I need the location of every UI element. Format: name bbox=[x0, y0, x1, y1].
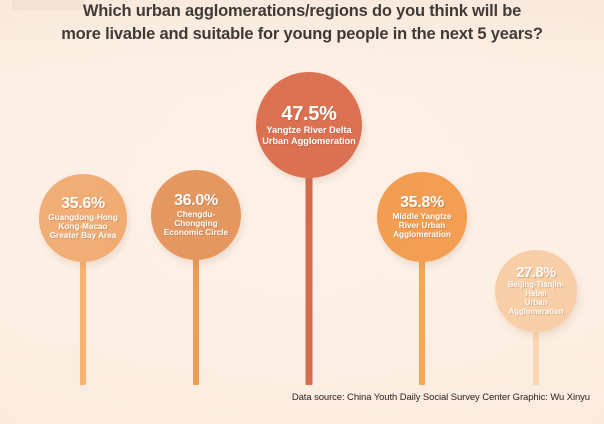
lollipop-chengdu-chongqing[interactable]: 36.0%Chengdu-ChongqingEconomic Circle bbox=[136, 170, 256, 385]
region-label-line: Beijing-Tianjin-Hebei bbox=[498, 281, 574, 298]
region-label-line: Urban Agglomeration bbox=[262, 136, 356, 146]
percentage-value: 27.8% bbox=[516, 266, 556, 281]
region-label: Chengdu-ChongqingEconomic Circle bbox=[161, 210, 231, 238]
lollipop-bubble[interactable]: 47.5%Yangtze River DeltaUrban Agglomerat… bbox=[256, 72, 362, 178]
region-label-line: Guangdong-Hong bbox=[48, 213, 118, 222]
percentage-value: 36.0% bbox=[174, 193, 218, 209]
lollipop-beijing-tianjin-hebei[interactable]: 27.8%Beijing-Tianjin-HebeiUrban Agglomer… bbox=[476, 250, 596, 385]
region-label-line: Chengdu- bbox=[164, 210, 228, 219]
region-label-line: Agglomeration bbox=[393, 230, 452, 239]
lollipop-bubble[interactable]: 27.8%Beijing-Tianjin-HebeiUrban Agglomer… bbox=[495, 250, 577, 332]
region-label-line: River Urban bbox=[393, 221, 452, 230]
region-label: Middle YangtzeRiver UrbanAgglomeration bbox=[390, 212, 455, 240]
region-label: Yangtze River DeltaUrban Agglomeration bbox=[259, 125, 359, 146]
percentage-value: 35.6% bbox=[61, 196, 105, 212]
region-label-line: Middle Yangtze bbox=[393, 212, 452, 221]
percentage-value: 35.8% bbox=[400, 195, 444, 211]
region-label-line: Chongqing bbox=[164, 219, 228, 228]
lollipop-middle-yangtze-river[interactable]: 35.8%Middle YangtzeRiver UrbanAgglomerat… bbox=[362, 172, 482, 385]
title-line-1: Which urban agglomerations/regions do yo… bbox=[0, 0, 604, 23]
region-label-line: Kong-Macao bbox=[48, 222, 118, 231]
data-source-note: Data source: China Youth Daily Social Su… bbox=[292, 392, 590, 403]
lollipop-bubble[interactable]: 36.0%Chengdu-ChongqingEconomic Circle bbox=[151, 170, 241, 260]
region-label-line: Urban Agglomeration bbox=[498, 299, 574, 316]
region-label-line: Greater Bay Area bbox=[48, 231, 118, 240]
title-line-2: more livable and suitable for young peop… bbox=[0, 23, 604, 46]
lollipop-bubble[interactable]: 35.6%Guangdong-HongKong-MacaoGreater Bay… bbox=[39, 174, 127, 262]
lollipop-yangtze-river-delta[interactable]: 47.5%Yangtze River DeltaUrban Agglomerat… bbox=[249, 72, 369, 385]
infographic-canvas: Which urban agglomerations/regions do yo… bbox=[0, 0, 604, 424]
lollipop-bubble[interactable]: 35.8%Middle YangtzeRiver UrbanAgglomerat… bbox=[377, 172, 467, 262]
region-label: Guangdong-HongKong-MacaoGreater Bay Area bbox=[45, 213, 121, 241]
region-label-line: Yangtze River Delta bbox=[262, 125, 356, 135]
region-label-line: Economic Circle bbox=[164, 228, 228, 237]
percentage-value: 47.5% bbox=[281, 104, 336, 124]
lollipop-guangdong-hong-kong-macao[interactable]: 35.6%Guangdong-HongKong-MacaoGreater Bay… bbox=[23, 174, 143, 385]
region-label: Beijing-Tianjin-HebeiUrban Agglomeration bbox=[495, 281, 577, 316]
page-title: Which urban agglomerations/regions do yo… bbox=[0, 0, 604, 46]
